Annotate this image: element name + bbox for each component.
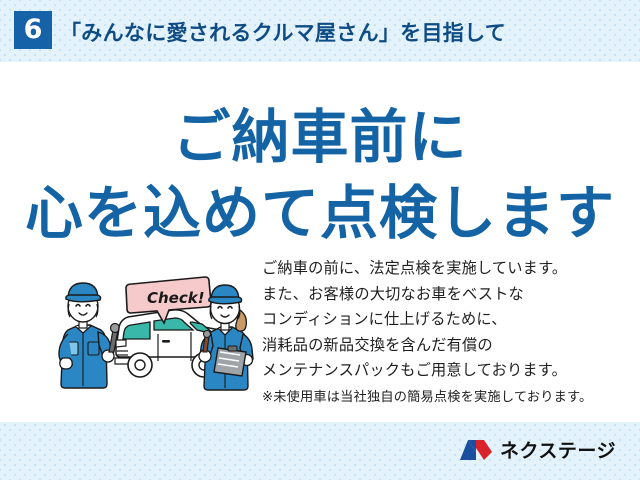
- content-card: ご納車前に 心を込めて点検します: [0, 62, 640, 422]
- headline-line-1: ご納車前に: [0, 90, 640, 174]
- page-footer: ネクステージ: [0, 422, 640, 480]
- body-line-3: コンディションに仕上げるために、: [262, 307, 632, 333]
- body-line-5: メンテナンスパックもご用意しております。: [262, 358, 632, 384]
- body-line-4: 消耗品の新品交換を含んだ有償の: [262, 333, 632, 359]
- nextstage-n-mark-icon: [459, 439, 493, 461]
- section-number-badge: 6: [14, 11, 52, 49]
- body-copy: ご納車の前に、法定点検を実施しています。 また、お客様の大切なお車をベストな コ…: [262, 256, 632, 408]
- headline-line-2: 心を込めて点検します: [0, 166, 640, 250]
- male-mechanic-figure: [59, 283, 120, 388]
- body-line-1: ご納車の前に、法定点検を実施しています。: [262, 256, 632, 282]
- brand-logo: ネクステージ: [459, 436, 616, 463]
- page-title: 「みんなに愛されるクルマ屋さん」を目指して: [60, 17, 506, 47]
- body-note: ※未使用車は当社独自の簡易点検を実施しております。: [262, 386, 632, 408]
- brand-name: ネクステージ: [500, 436, 616, 463]
- body-line-2: また、お客様の大切なお車をベストな: [262, 282, 632, 308]
- mechanics-illustration-svg: Check!: [58, 270, 263, 400]
- mechanics-illustration: Check!: [58, 270, 263, 400]
- speech-bubble-label: Check!: [147, 289, 205, 307]
- page-header: 6 「みんなに愛されるクルマ屋さん」を目指して: [0, 0, 640, 62]
- promo-page: 6 「みんなに愛されるクルマ屋さん」を目指して ご納車前に 心を込めて点検します: [0, 0, 640, 480]
